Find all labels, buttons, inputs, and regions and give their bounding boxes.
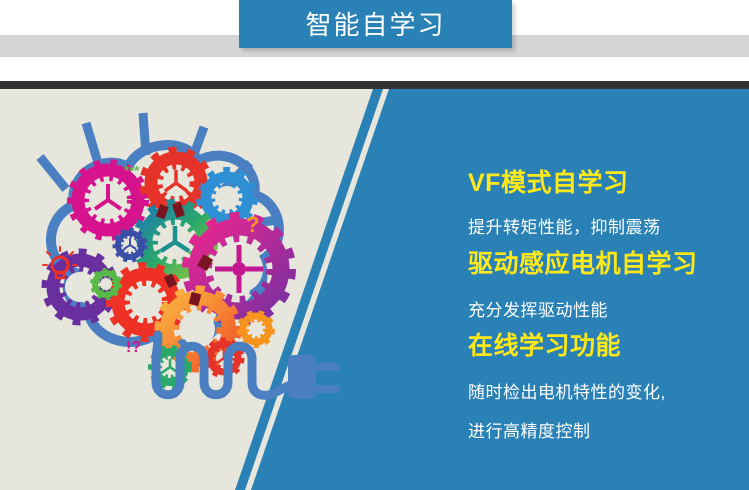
header-dark-band bbox=[0, 81, 749, 89]
page-root: 智能自学习 bbox=[0, 0, 749, 490]
feature-heading-3: 在线学习功能 bbox=[468, 334, 621, 359]
question-symbol-icon: ? bbox=[246, 212, 259, 237]
feature-heading-2: 驱动感应电机自学习 bbox=[468, 252, 698, 277]
brain-illustration: ! ? !? *** bbox=[18, 97, 348, 427]
feature-heading-1: VF模式自学习 bbox=[468, 171, 628, 196]
feature-text-column: VF模式自学习 提升转矩性能，抑制震荡 驱动感应电机自学习 充分发挥驱动性能 在… bbox=[468, 89, 749, 490]
page-title-box: 智能自学习 bbox=[239, 0, 512, 48]
page-title: 智能自学习 bbox=[305, 12, 445, 38]
main-panel: ! ? !? *** bbox=[0, 89, 749, 490]
sparkle-symbol-icon: *** bbox=[124, 163, 140, 178]
exclamation-symbol-icon: ! bbox=[196, 176, 203, 198]
feature-desc-1: 提升转矩性能，抑制震荡 bbox=[468, 219, 661, 236]
exclaim-question-symbol-icon: !? bbox=[126, 339, 141, 356]
power-plug-icon bbox=[288, 355, 340, 399]
feature-desc-2: 充分发挥驱动性能 bbox=[468, 302, 608, 319]
feature-desc-3-line-2: 进行高精度控制 bbox=[468, 423, 591, 440]
feature-desc-3-line-1: 随时检出电机特性的变化, bbox=[468, 384, 666, 401]
